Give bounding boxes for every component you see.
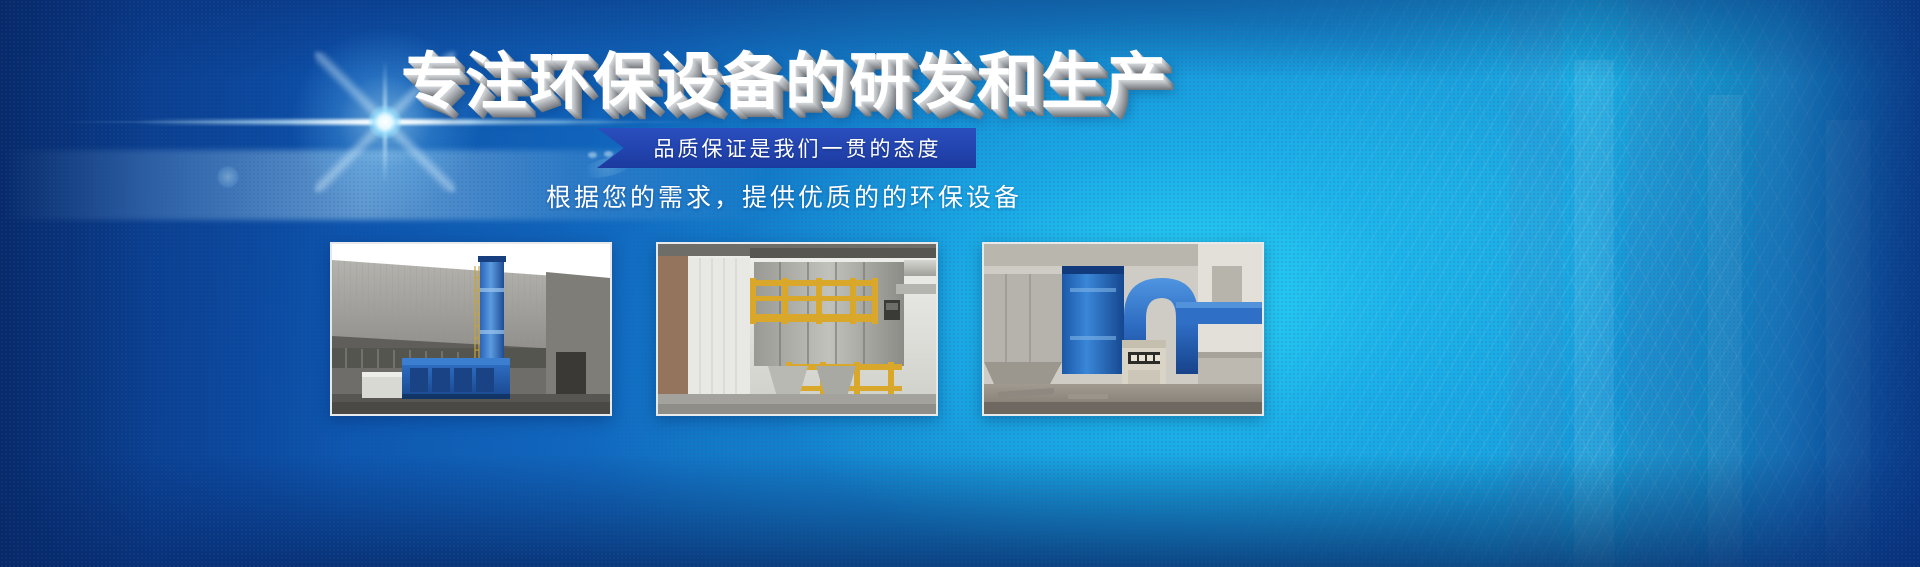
indoor-equipment-platform-image [658,244,936,414]
page-subtitle: 根据您的需求，提供优质的的环保设备 [0,178,1568,214]
tagline-badge-label: 品质保证是我们一贯的态度 [632,133,942,163]
workshop-exterior-image [332,244,610,414]
product-photo-1[interactable] [330,242,612,416]
product-photo-2[interactable] [656,242,938,416]
hero-banner: 专注环保设备的研发和生产 品质保证是我们一贯的态度 根据您的需求，提供优质的的环… [0,0,1920,567]
bokeh-dot [588,152,597,158]
bokeh-dot [604,151,613,157]
page-title: 专注环保设备的研发和生产 [0,52,1570,114]
product-photo-row [330,242,1264,416]
baghouse-ducting-image [984,244,1262,414]
tagline-badge: 品质保证是我们一贯的态度 [597,128,976,168]
product-photo-3[interactable] [982,242,1264,416]
